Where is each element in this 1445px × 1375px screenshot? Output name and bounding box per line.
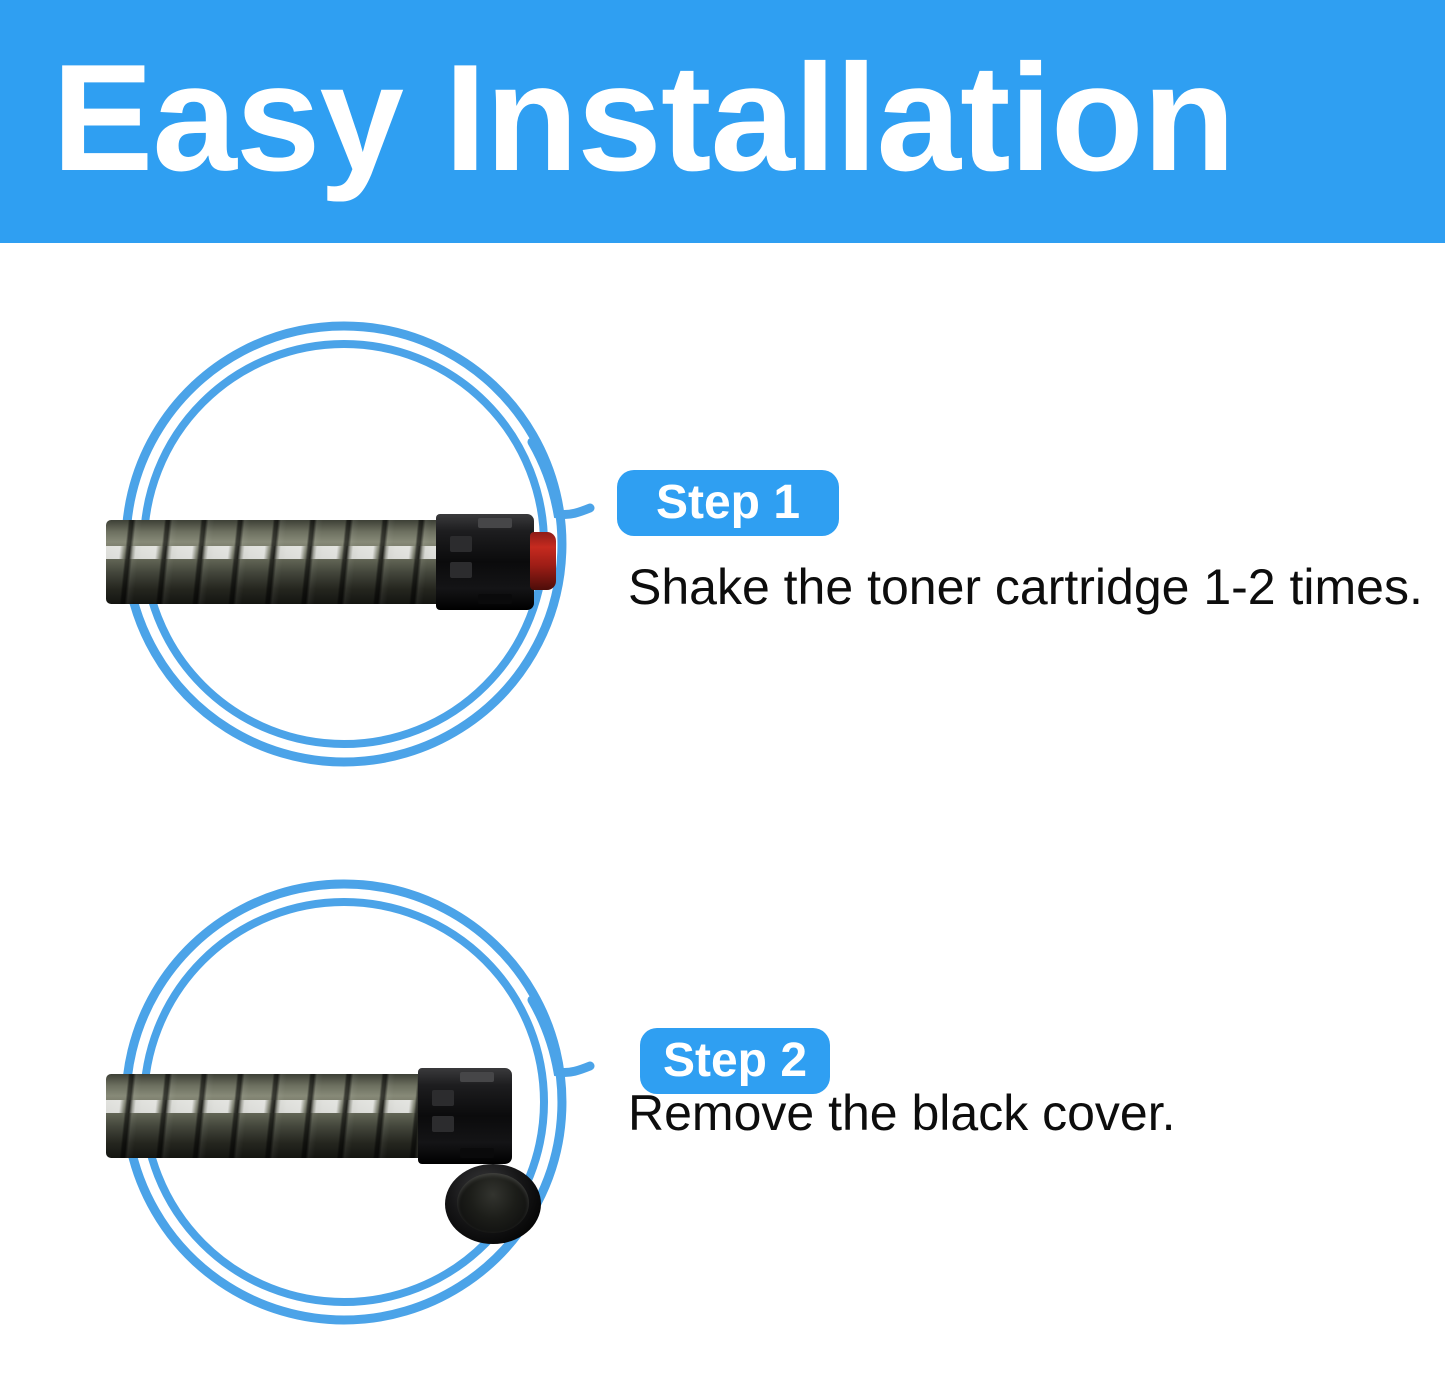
housing-notch	[450, 536, 472, 552]
housing-notch	[450, 562, 472, 578]
step-block-2: Step 2 Remove the black cover.	[0, 876, 1445, 1366]
cartridge-nozzle-housing-1	[436, 514, 534, 610]
cartridge-red-seal-tip	[530, 532, 556, 590]
step-description-1: Shake the toner cartridge 1-2 times.	[628, 556, 1423, 618]
housing-notch	[432, 1116, 454, 1132]
cartridge-ribs-2	[106, 1074, 424, 1158]
cartridge-ribs-1	[106, 520, 442, 604]
housing-ridge	[478, 518, 512, 528]
housing-notch	[432, 1090, 454, 1106]
cover-cap-inner-recess	[457, 1173, 529, 1233]
cartridge-highlight-2	[106, 1100, 420, 1113]
housing-ridge	[478, 594, 512, 604]
easy-installation-infographic: Easy Installation Ste	[0, 0, 1445, 1375]
housing-ridge	[460, 1072, 494, 1082]
housing-ridge	[460, 1148, 494, 1158]
detached-black-cover-cap	[445, 1164, 541, 1244]
toner-cartridge-image-2	[106, 1068, 526, 1164]
step-description-2: Remove the black cover.	[628, 1082, 1176, 1144]
cartridge-nozzle-housing-2	[418, 1068, 512, 1164]
cartridge-highlight-1	[106, 546, 438, 559]
step-block-1: Step 1 Shake the toner cartridge 1-2 tim…	[0, 318, 1445, 858]
header-banner: Easy Installation	[0, 0, 1445, 243]
page-title: Easy Installation	[52, 26, 1432, 211]
toner-cartridge-image-1	[106, 514, 552, 610]
step-badge-1: Step 1	[617, 470, 839, 536]
